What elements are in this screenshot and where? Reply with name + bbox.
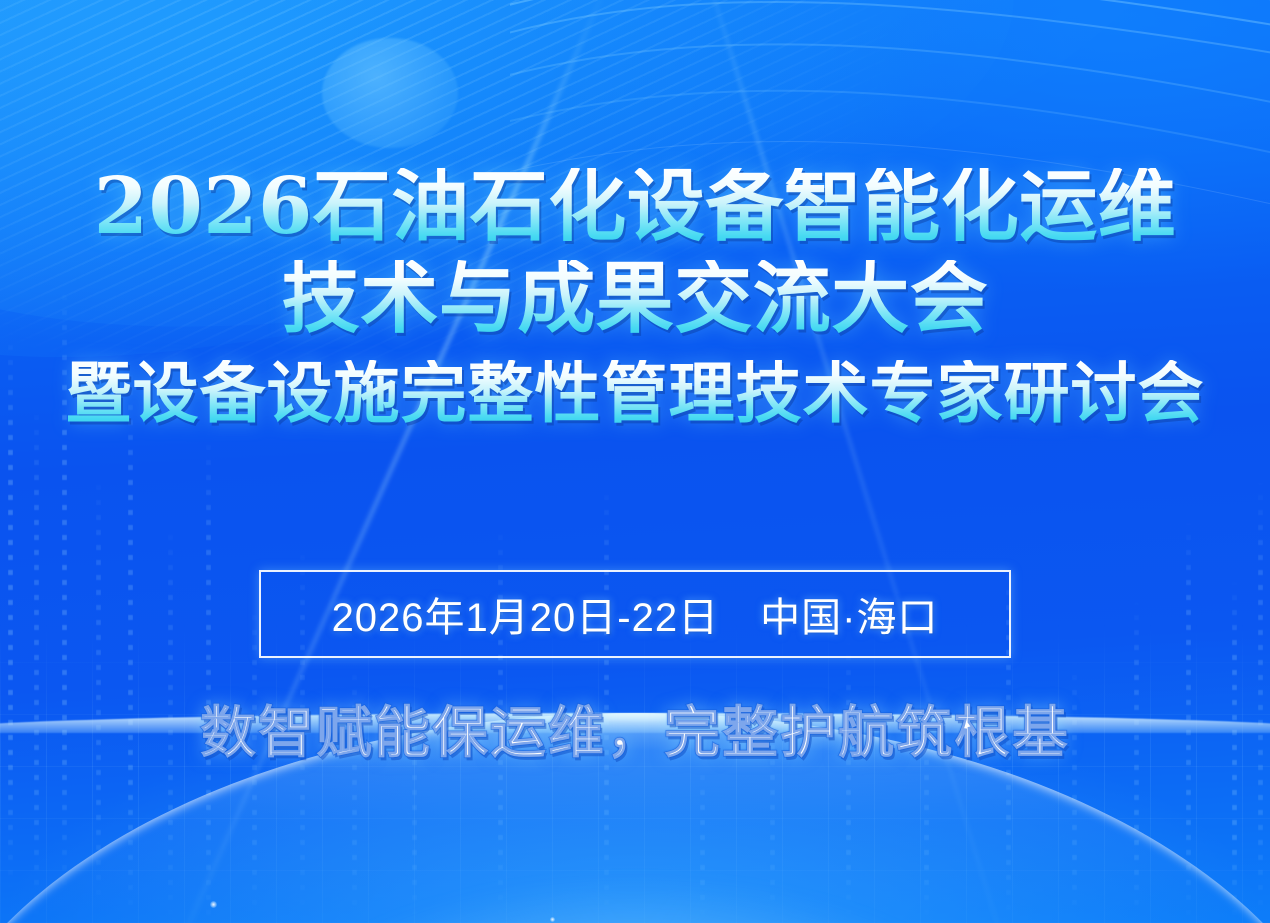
title-line-1: 2026石油石化设备智能化运维: [0, 168, 1270, 246]
conference-banner: 2026石油石化设备智能化运维 技术与成果交流大会 暨设备设施完整性管理技术专家…: [0, 0, 1270, 923]
conference-slogan: 数智赋能保运维，完整护航筑根基: [0, 688, 1270, 769]
banner-content: 2026石油石化设备智能化运维 技术与成果交流大会 暨设备设施完整性管理技术专家…: [0, 0, 1270, 923]
title-subtitle-line: 暨设备设施完整性管理技术专家研讨会: [0, 360, 1270, 426]
date-location-text: 2026年1月20日-22日 中国·海口: [332, 585, 939, 643]
conference-title-block: 2026石油石化设备智能化运维 技术与成果交流大会 暨设备设施完整性管理技术专家…: [0, 168, 1270, 426]
date-location-box: 2026年1月20日-22日 中国·海口: [259, 570, 1011, 658]
title-line-2: 技术与成果交流大会: [0, 260, 1270, 338]
